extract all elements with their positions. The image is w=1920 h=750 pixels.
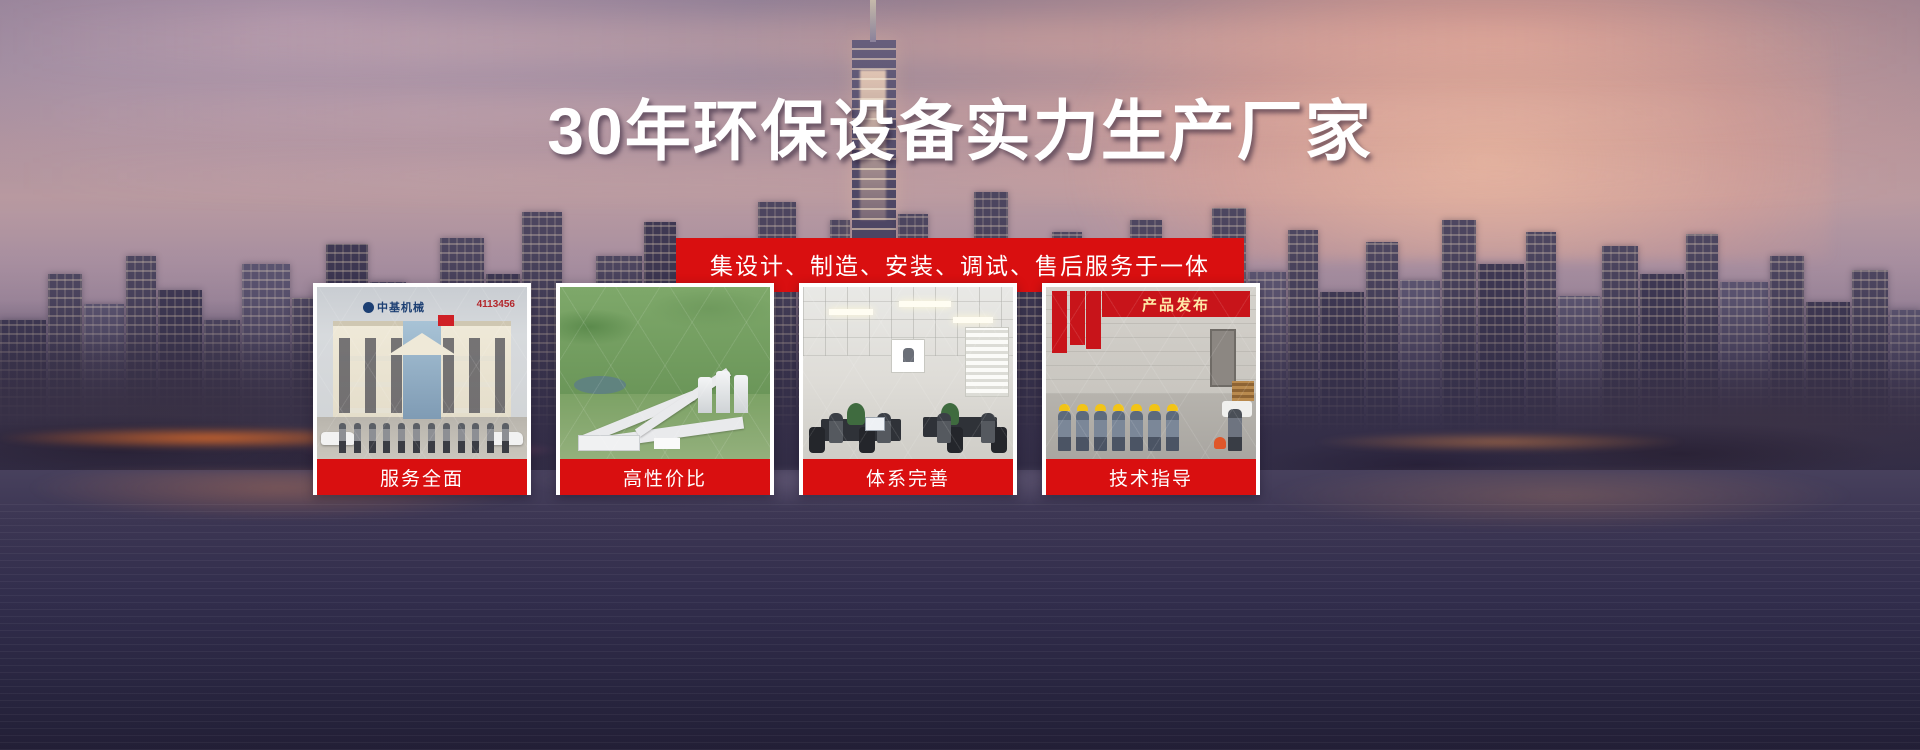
office-interior-team-working-image [803, 287, 1013, 459]
wall-poster [891, 339, 925, 373]
company-office-building-with-staff-image: 中基机械 4113456 [317, 287, 527, 459]
feature-card-caption: 技术指导 [1046, 459, 1256, 495]
workshop-workers-with-helmets-image: 产品发布 [1046, 287, 1256, 459]
feature-card-caption: 体系完善 [803, 459, 1013, 495]
feature-card-list: 中基机械 4113456 服务全面 [313, 283, 1563, 495]
phone-number-text: 4113456 [477, 299, 515, 310]
company-sign: 中基机械 [363, 299, 459, 315]
flag-icon [438, 315, 454, 326]
aerial-view-industrial-plant-image [560, 287, 770, 459]
company-sign-text: 中基机械 [377, 299, 425, 315]
company-logo-icon [363, 302, 374, 313]
helmet-icon [1214, 437, 1226, 449]
feature-card[interactable]: 产品发布 技术指导 [1042, 283, 1260, 495]
window-blinds [965, 327, 1009, 397]
feature-card-caption: 高性价比 [560, 459, 770, 495]
hero-banner: 30年环保设备实力生产厂家 集设计、制造、安装、调试、售后服务于一体 中基机械 … [0, 0, 1920, 750]
feature-card[interactable]: 高性价比 [556, 283, 774, 495]
workshop-door [1210, 329, 1236, 387]
page-title: 30年环保设备实力生产厂家 [0, 98, 1920, 164]
laptop-icon [865, 417, 885, 431]
feature-card[interactable]: 中基机械 4113456 服务全面 [313, 283, 531, 495]
workshop-banner-text: 产品发布 [1102, 291, 1250, 317]
feature-card-caption: 服务全面 [317, 459, 527, 495]
staff-row [339, 419, 509, 453]
feature-card[interactable]: 体系完善 [799, 283, 1017, 495]
